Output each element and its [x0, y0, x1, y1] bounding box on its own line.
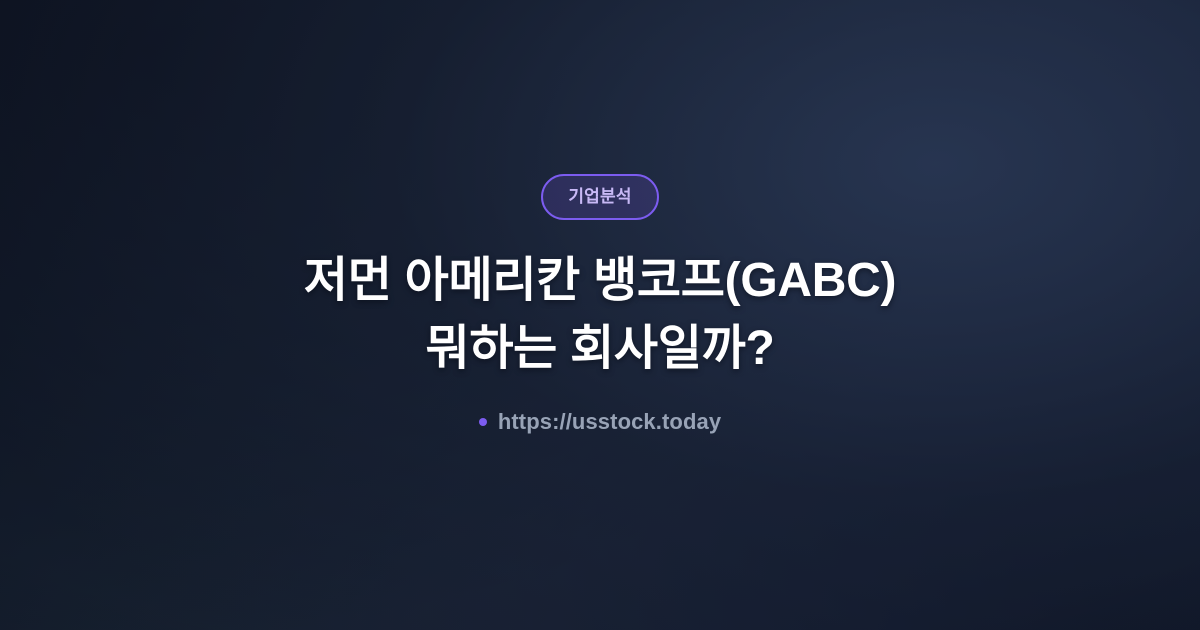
bullet-dot-icon	[479, 418, 487, 426]
page-title-line-1: 저먼 아메리칸 뱅코프(GABC)	[304, 247, 896, 315]
og-share-card: 기업분석 저먼 아메리칸 뱅코프(GABC) 뭐하는 회사일까? https:/…	[0, 0, 1200, 630]
page-title: 저먼 아메리칸 뱅코프(GABC) 뭐하는 회사일까?	[304, 247, 896, 383]
category-badge: 기업분석	[541, 174, 658, 220]
page-title-line-2: 뭐하는 회사일까?	[304, 315, 896, 383]
site-url-row: https://usstock.today	[479, 411, 721, 433]
site-url-label: https://usstock.today	[498, 411, 721, 433]
card-content: 기업분석 저먼 아메리칸 뱅코프(GABC) 뭐하는 회사일까? https:/…	[0, 174, 1200, 433]
